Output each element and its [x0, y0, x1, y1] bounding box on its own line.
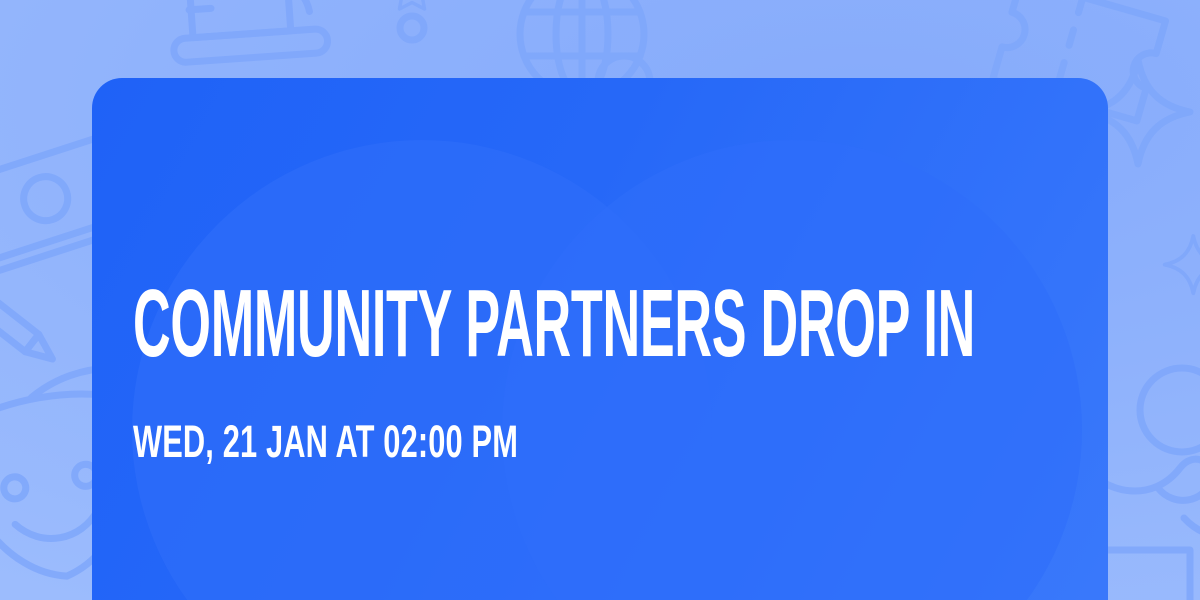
event-banner: COMMUNITY PARTNERS DROP IN WED, 21 JAN A…: [0, 0, 1200, 600]
star-icon: [392, 0, 432, 9]
small-sparkle-icon: [1165, 236, 1200, 293]
laptop-icon: [167, 0, 328, 63]
event-datetime: WED, 21 JAN AT 02:00 PM: [133, 419, 518, 464]
event-card[interactable]: COMMUNITY PARTNERS DROP IN WED, 21 JAN A…: [92, 78, 1108, 600]
event-title: COMMUNITY PARTNERS DROP IN: [133, 276, 975, 372]
pencil-icon: [0, 270, 59, 367]
event-card-content: COMMUNITY PARTNERS DROP IN WED, 21 JAN A…: [133, 78, 1068, 600]
dot-icon: [400, 16, 424, 40]
